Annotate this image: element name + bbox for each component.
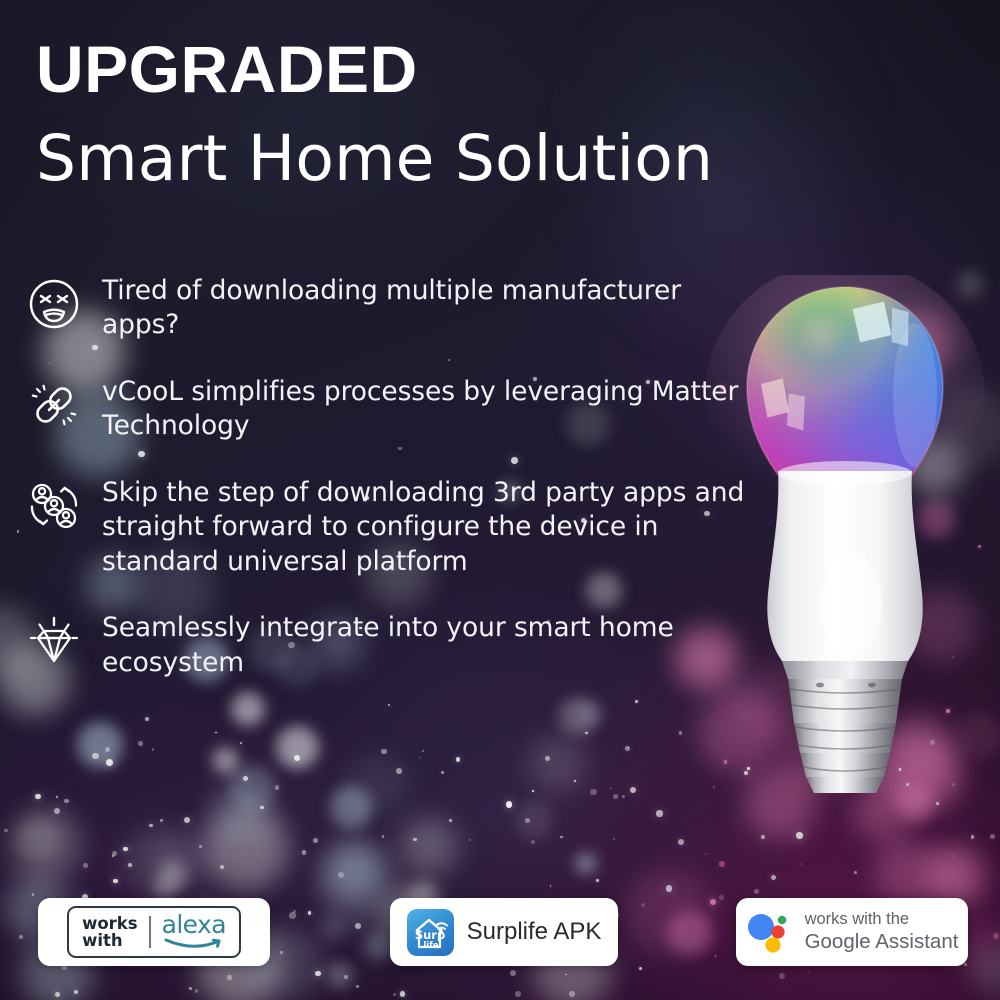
google-assistant-icon xyxy=(746,911,792,953)
assistant-dot-blue xyxy=(748,914,774,940)
surplife-app-icon: Surp life xyxy=(407,909,454,956)
alexa-line-2: with xyxy=(82,932,138,949)
alexa-wordmark-text: alexa xyxy=(162,913,226,937)
alexa-line-1: works xyxy=(82,915,138,932)
feature-item: Skip the step of downloading 3rd party a… xyxy=(24,474,754,579)
surplife-label: Surplife APK xyxy=(467,918,602,946)
feature-text: vCooL simplifies processes by leveraging… xyxy=(102,373,754,444)
amazon-smile-icon xyxy=(163,936,225,951)
diamond-icon xyxy=(24,611,84,671)
headline-secondary: Smart Home Solution xyxy=(36,126,916,192)
alexa-divider xyxy=(149,916,151,948)
rgb-smart-bulb-image xyxy=(700,275,990,795)
feature-item: vCooL simplifies processes by leveraging… xyxy=(24,373,754,444)
feature-text: Seamlessly integrate into your smart hom… xyxy=(102,609,754,680)
google-line-1: works with the xyxy=(805,910,959,929)
badge-works-with-google-assistant[interactable]: works with the Google Assistant xyxy=(736,898,968,966)
poster-canvas: UPGRADED Smart Home Solution Tired of do… xyxy=(0,0,1000,1000)
badge-works-with-alexa[interactable]: works with alexa xyxy=(38,898,270,966)
feature-text: Tired of downloading multiple manufactur… xyxy=(102,272,754,343)
surplife-icon-text-top: Surp xyxy=(414,928,444,942)
chain-link-icon xyxy=(24,375,84,435)
surplife-row: Surp life Surplife APK xyxy=(407,909,602,956)
google-assistant-label: works with the Google Assistant xyxy=(805,910,959,954)
assistant-dot-red xyxy=(771,925,784,938)
google-assistant-dots xyxy=(746,911,792,953)
surplife-icon-art: Surp life xyxy=(407,909,454,956)
feature-item: Seamlessly integrate into your smart hom… xyxy=(24,609,754,680)
alexa-wordmark: alexa xyxy=(162,913,226,952)
surplife-icon-text-bottom: life xyxy=(423,941,439,951)
alexa-works-with-label: works with xyxy=(82,915,138,949)
headline-block: UPGRADED Smart Home Solution xyxy=(36,36,916,192)
badge-surplife-apk[interactable]: Surp life Surplife APK xyxy=(390,898,618,966)
compatibility-badges: works with alexa xyxy=(0,898,1000,970)
assistant-dot-yellow xyxy=(765,937,780,952)
google-assistant-row: works with the Google Assistant xyxy=(746,910,959,954)
feature-text: Skip the step of downloading 3rd party a… xyxy=(102,474,754,579)
google-line-2: Google Assistant xyxy=(805,930,959,954)
headline-primary: UPGRADED xyxy=(36,36,916,102)
feature-item: Tired of downloading multiple manufactur… xyxy=(24,272,754,343)
alexa-badge-frame: works with alexa xyxy=(67,906,241,959)
users-sync-icon xyxy=(24,476,84,536)
feature-list: Tired of downloading multiple manufactur… xyxy=(24,272,754,710)
weary-face-icon xyxy=(24,274,84,334)
assistant-dot-green xyxy=(777,916,786,925)
